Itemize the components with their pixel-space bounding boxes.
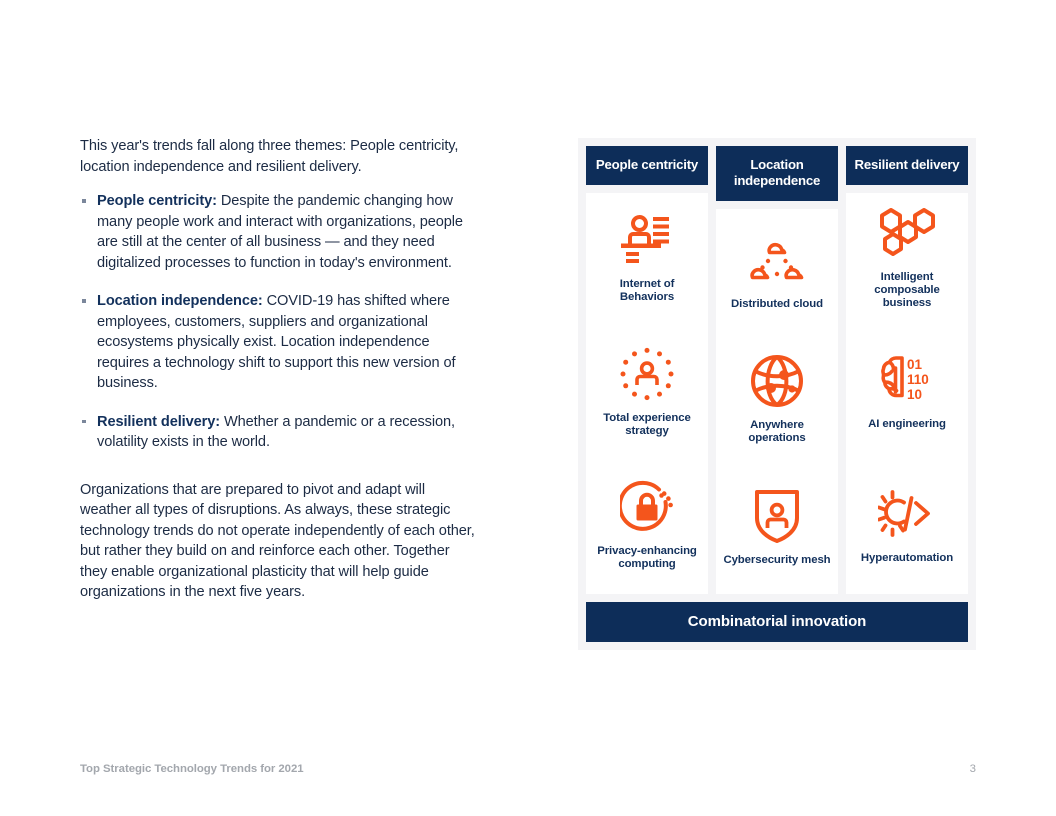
bullet-lead-label: Location independence: xyxy=(97,293,263,309)
trend-cell-anywhere-operations[interactable]: Anywhere operations xyxy=(716,337,838,465)
theme-header-people-centricity: People centricity xyxy=(586,146,708,185)
svg-text:110: 110 xyxy=(907,372,929,387)
theme-column-people-centricity: People centricity xyxy=(586,146,708,594)
diagram-columns-container: People centricity xyxy=(586,146,968,594)
list-item: People centricity: Despite the pandemic … xyxy=(80,191,480,273)
trend-label: Cybersecurity mesh xyxy=(723,554,830,567)
trend-label: Hyperautomation xyxy=(861,552,953,565)
privacy-lock-icon xyxy=(620,479,674,535)
brain-binary-icon: 01 110 10 xyxy=(878,352,936,408)
theme-header-location-independence: Location independence xyxy=(716,146,838,201)
bullet-marker-icon xyxy=(82,420,86,424)
trend-label: Privacy-enhancing computing xyxy=(592,545,702,571)
bullet-marker-icon xyxy=(82,299,86,303)
trend-cell-distributed-cloud[interactable]: Distributed cloud xyxy=(716,209,838,337)
trend-cell-total-experience-strategy[interactable]: Total experience strategy xyxy=(586,327,708,461)
trend-label: Intelligent composable business xyxy=(852,271,962,310)
total-experience-icon xyxy=(620,346,674,402)
trend-cell-ai-engineering[interactable]: 01 110 10 AI engineering xyxy=(846,327,968,461)
globe-network-icon xyxy=(750,353,804,409)
bullet-lead-label: People centricity: xyxy=(97,193,217,209)
trend-label: Total experience strategy xyxy=(592,412,702,438)
themes-bullet-list: People centricity: Despite the pandemic … xyxy=(80,191,480,453)
closing-paragraph: Organizations that are prepared to pivot… xyxy=(80,480,480,603)
gear-code-icon xyxy=(878,486,936,542)
theme-column-location-independence: Location independence xyxy=(716,146,838,594)
internet-of-behaviors-icon xyxy=(619,212,675,268)
trend-cell-intelligent-composable-business[interactable]: Intelligent composable business xyxy=(846,193,968,327)
shield-person-icon xyxy=(753,488,801,544)
bullet-lead-label: Resilient delivery: xyxy=(97,414,220,430)
trend-cell-cybersecurity-mesh[interactable]: Cybersecurity mesh xyxy=(716,466,838,594)
theme-body-location-independence: Distributed cloud xyxy=(716,209,838,594)
theme-body-resilient-delivery: Intelligent composable business xyxy=(846,193,968,594)
combinatorial-innovation-banner: Combinatorial innovation xyxy=(586,602,968,642)
trend-cell-internet-of-behaviors[interactable]: Internet of Behaviors xyxy=(586,193,708,327)
list-item: Resilient delivery: Whether a pandemic o… xyxy=(80,412,480,453)
page-footer: Top Strategic Technology Trends for 2021… xyxy=(80,763,976,775)
trends-matrix-diagram: People centricity xyxy=(578,138,976,650)
distributed-cloud-icon xyxy=(749,232,805,288)
trend-cell-privacy-enhancing-computing[interactable]: Privacy-enhancing computing xyxy=(586,460,708,594)
svg-text:01: 01 xyxy=(907,357,923,372)
trend-label: AI engineering xyxy=(868,418,946,431)
footer-page-number: 3 xyxy=(970,763,976,775)
trend-label: Internet of Behaviors xyxy=(592,278,702,304)
list-item: Location independence: COVID-19 has shif… xyxy=(80,291,480,394)
intro-paragraph: This year's trends fall along three them… xyxy=(80,136,480,177)
theme-body-people-centricity: Internet of Behaviors xyxy=(586,193,708,594)
theme-header-resilient-delivery: Resilient delivery xyxy=(846,146,968,185)
trend-cell-hyperautomation[interactable]: Hyperautomation xyxy=(846,460,968,594)
body-text-column: This year's trends fall along three them… xyxy=(80,136,480,603)
trend-label: Distributed cloud xyxy=(731,298,823,311)
bullet-marker-icon xyxy=(82,199,86,203)
theme-column-resilient-delivery: Resilient delivery Intellig xyxy=(846,146,968,594)
hexagons-icon xyxy=(878,205,936,261)
footer-document-title: Top Strategic Technology Trends for 2021 xyxy=(80,763,304,775)
svg-text:10: 10 xyxy=(907,387,922,402)
trend-label: Anywhere operations xyxy=(722,419,832,445)
